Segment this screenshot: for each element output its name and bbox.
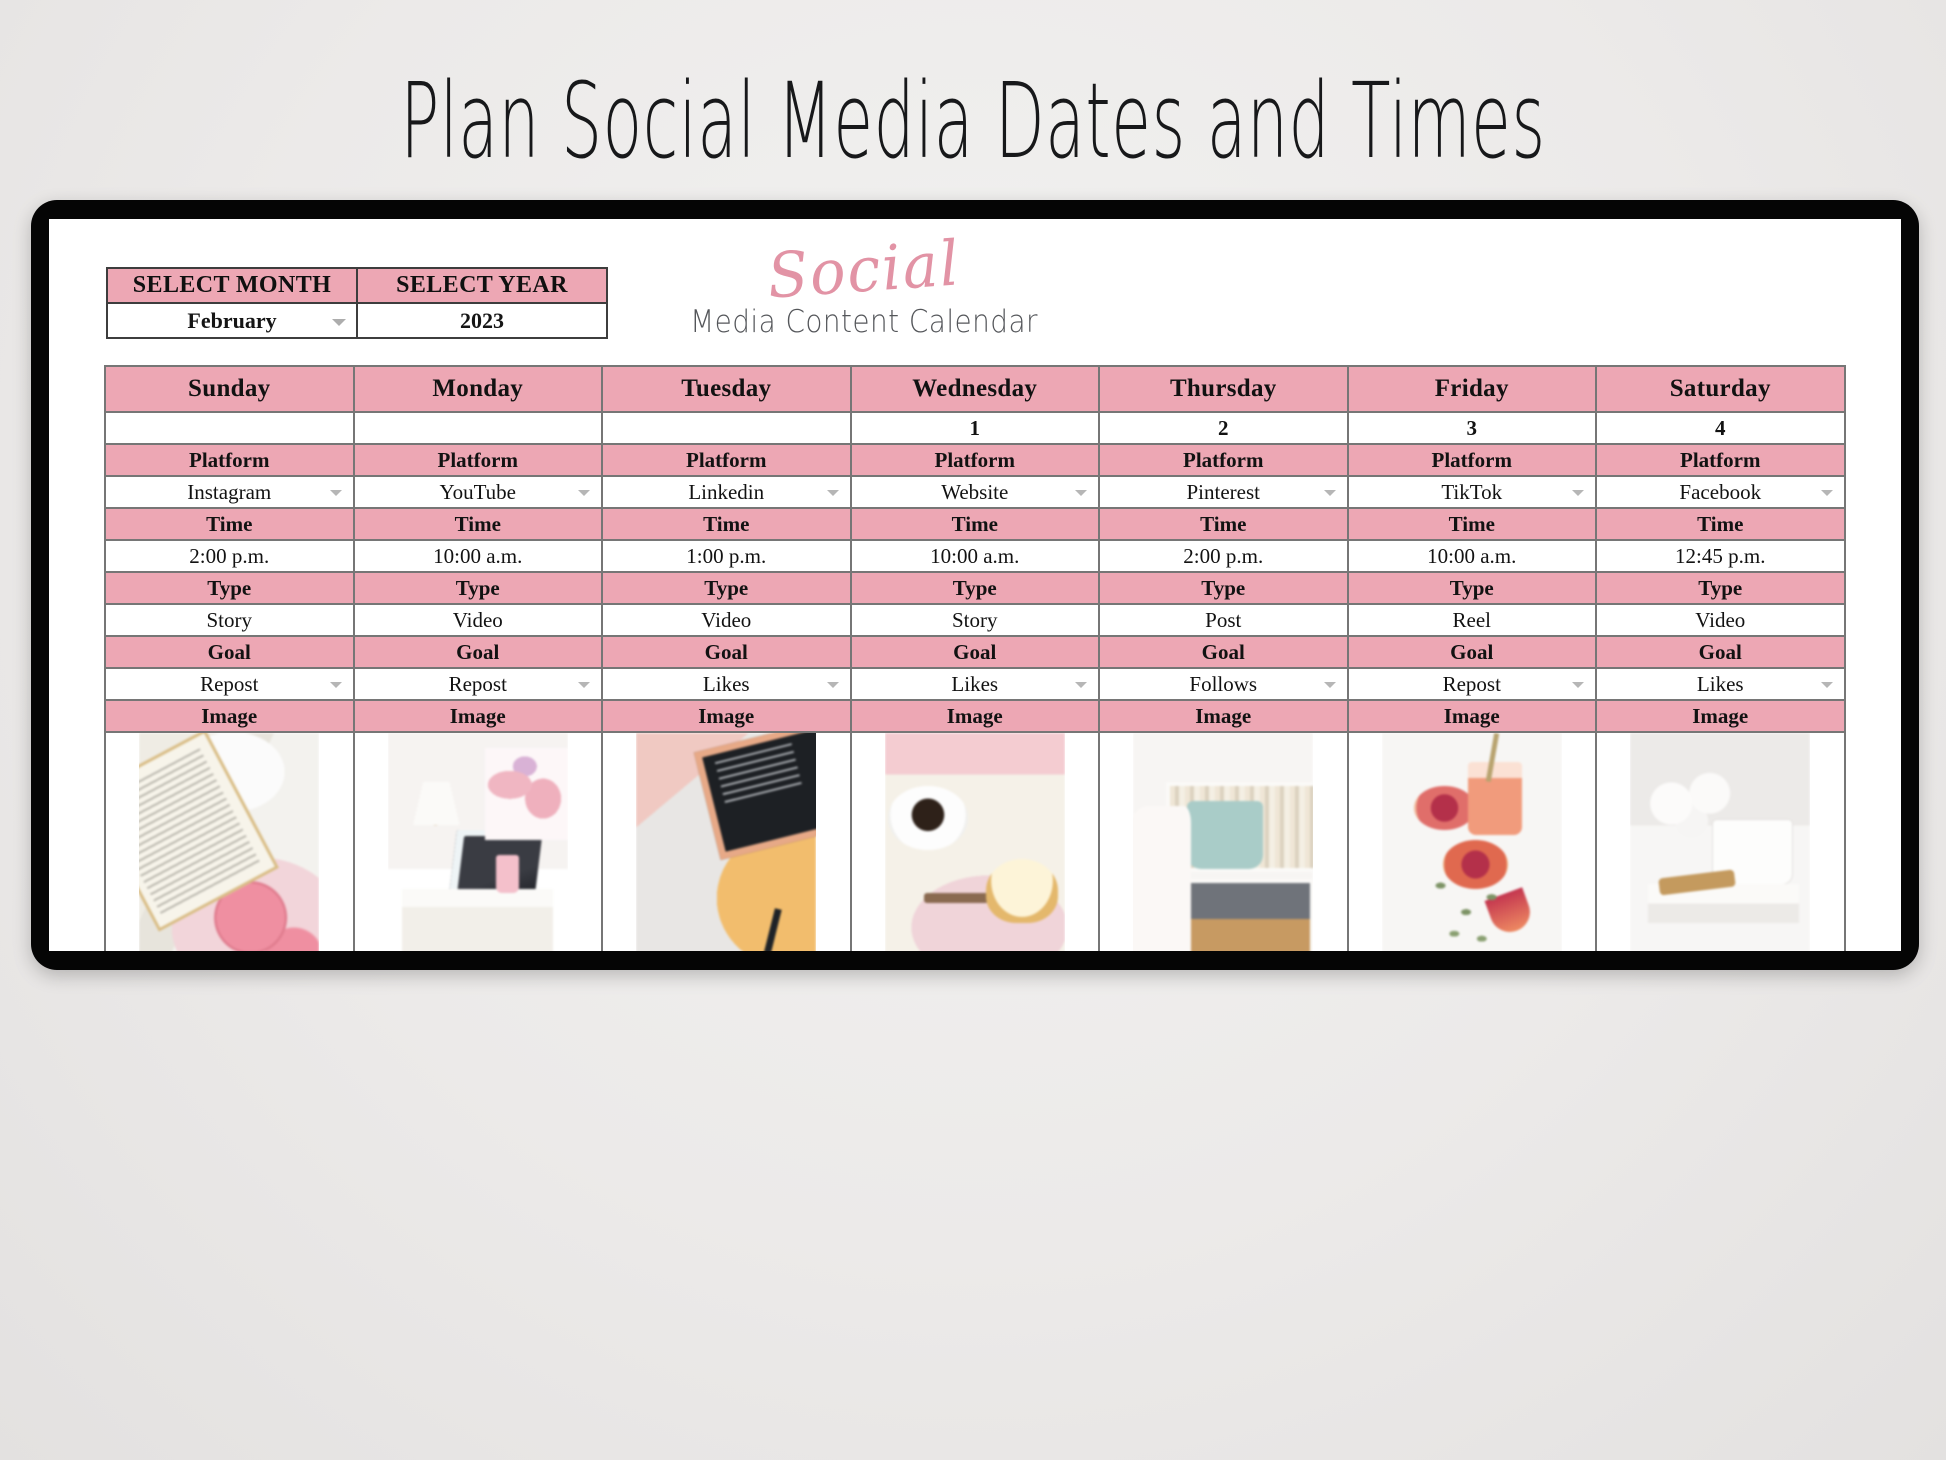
date-cell[interactable]: 3: [1347, 411, 1598, 445]
type-value[interactable]: Video: [1595, 603, 1846, 637]
goal-dropdown[interactable]: Follows: [1098, 667, 1349, 701]
month-value: February: [187, 308, 276, 333]
platform-dropdown[interactable]: TikTok: [1347, 475, 1598, 509]
time-label: Time: [850, 507, 1101, 541]
type-label: Type: [1595, 571, 1846, 605]
image-cell[interactable]: [104, 731, 355, 951]
image-thumbnail: [139, 733, 319, 951]
month-year-selector: SELECT MONTH SELECT YEAR February 2023: [106, 267, 608, 339]
logo-script-text: Social: [658, 225, 1070, 315]
date-cell[interactable]: 2: [1098, 411, 1349, 445]
goal-dropdown[interactable]: Likes: [601, 667, 852, 701]
day-column-friday: Friday3PlatformTikTokTime10:00 a.m.TypeR…: [1349, 367, 1598, 951]
goal-label: Goal: [1347, 635, 1598, 669]
weekday-header: Friday: [1347, 365, 1598, 413]
chevron-down-icon[interactable]: [1324, 490, 1336, 496]
goal-label: Goal: [850, 635, 1101, 669]
date-cell[interactable]: [104, 411, 355, 445]
chevron-down-icon[interactable]: [1075, 490, 1087, 496]
image-thumbnail: [1382, 733, 1562, 951]
chevron-down-icon[interactable]: [1075, 682, 1087, 688]
chevron-down-icon[interactable]: [578, 490, 590, 496]
image-cell[interactable]: [1098, 731, 1349, 951]
type-label: Type: [601, 571, 852, 605]
chevron-down-icon[interactable]: [330, 682, 342, 688]
platform-label: Platform: [353, 443, 604, 477]
day-column-tuesday: Tuesday PlatformLinkedinTime1:00 p.m.Typ…: [603, 367, 852, 951]
image-thumbnail: [1133, 733, 1313, 951]
page-title: Plan Social Media Dates and Times: [370, 66, 1577, 176]
type-label: Type: [104, 571, 355, 605]
chevron-down-icon[interactable]: [1324, 682, 1336, 688]
platform-label: Platform: [1347, 443, 1598, 477]
image-label: Image: [850, 699, 1101, 733]
image-label: Image: [1595, 699, 1846, 733]
platform-label: Platform: [601, 443, 852, 477]
weekday-header: Sunday: [104, 365, 355, 413]
chevron-down-icon[interactable]: [1572, 490, 1584, 496]
weekday-header: Thursday: [1098, 365, 1349, 413]
logo-subtitle: Media Content Calendar: [671, 305, 1058, 339]
time-label: Time: [104, 507, 355, 541]
type-label: Type: [1347, 571, 1598, 605]
goal-dropdown[interactable]: Likes: [1595, 667, 1846, 701]
goal-label: Goal: [601, 635, 852, 669]
goal-label: Goal: [1098, 635, 1349, 669]
image-label: Image: [1098, 699, 1349, 733]
platform-label: Platform: [1098, 443, 1349, 477]
image-cell[interactable]: [850, 731, 1101, 951]
image-cell[interactable]: [1347, 731, 1598, 951]
platform-dropdown[interactable]: Instagram: [104, 475, 355, 509]
time-value[interactable]: 10:00 a.m.: [1347, 539, 1598, 573]
image-cell[interactable]: [1595, 731, 1846, 951]
screen: SELECT MONTH SELECT YEAR February 2023 S…: [49, 219, 1901, 951]
chevron-down-icon[interactable]: [1821, 490, 1833, 496]
image-label: Image: [601, 699, 852, 733]
platform-label: Platform: [1595, 443, 1846, 477]
date-cell[interactable]: 4: [1595, 411, 1846, 445]
select-year-header: SELECT YEAR: [357, 268, 607, 303]
day-column-saturday: Saturday4PlatformFacebookTime12:45 p.m.T…: [1597, 367, 1846, 951]
time-label: Time: [1595, 507, 1846, 541]
type-value[interactable]: Story: [850, 603, 1101, 637]
spreadsheet: SELECT MONTH SELECT YEAR February 2023 S…: [49, 219, 1901, 951]
chevron-down-icon[interactable]: [827, 490, 839, 496]
platform-label: Platform: [850, 443, 1101, 477]
photo-3: [636, 733, 816, 951]
time-value[interactable]: 1:00 p.m.: [601, 539, 852, 573]
day-column-monday: Monday PlatformYouTubeTime10:00 a.m.Type…: [355, 367, 604, 951]
time-value[interactable]: 10:00 a.m.: [850, 539, 1101, 573]
image-cell[interactable]: [601, 731, 852, 951]
platform-dropdown[interactable]: Linkedin: [601, 475, 852, 509]
chevron-down-icon[interactable]: [330, 490, 342, 496]
weekday-header: Wednesday: [850, 365, 1101, 413]
image-thumbnail: [1630, 733, 1810, 951]
goal-label: Goal: [104, 635, 355, 669]
type-label: Type: [850, 571, 1101, 605]
chevron-down-icon[interactable]: [827, 682, 839, 688]
platform-dropdown[interactable]: Facebook: [1595, 475, 1846, 509]
platform-dropdown[interactable]: YouTube: [353, 475, 604, 509]
chevron-down-icon[interactable]: [1572, 682, 1584, 688]
goal-dropdown[interactable]: Repost: [104, 667, 355, 701]
type-value[interactable]: Video: [353, 603, 604, 637]
date-cell[interactable]: 1: [850, 411, 1101, 445]
photo-6: [1382, 733, 1562, 951]
day-column-wednesday: Wednesday1PlatformWebsiteTime10:00 a.m.T…: [852, 367, 1101, 951]
month-dropdown[interactable]: February: [107, 303, 357, 338]
time-value[interactable]: 12:45 p.m.: [1595, 539, 1846, 573]
weekday-header: Saturday: [1595, 365, 1846, 413]
type-value[interactable]: Post: [1098, 603, 1349, 637]
time-label: Time: [1098, 507, 1349, 541]
time-label: Time: [1347, 507, 1598, 541]
type-label: Type: [353, 571, 604, 605]
type-value[interactable]: Video: [601, 603, 852, 637]
photo-1: [139, 733, 319, 951]
platform-label: Platform: [104, 443, 355, 477]
chevron-down-icon[interactable]: [1821, 682, 1833, 688]
type-value[interactable]: Story: [104, 603, 355, 637]
goal-dropdown[interactable]: Repost: [1347, 667, 1598, 701]
logo: Social Media Content Calendar: [649, 239, 1079, 339]
time-label: Time: [601, 507, 852, 541]
image-label: Image: [353, 699, 604, 733]
goal-dropdown[interactable]: Repost: [353, 667, 604, 701]
photo-4: [885, 733, 1065, 951]
time-label: Time: [353, 507, 604, 541]
photo-5: [1133, 733, 1313, 951]
goal-label: Goal: [353, 635, 604, 669]
image-thumbnail: [388, 733, 568, 951]
image-label: Image: [104, 699, 355, 733]
date-cell[interactable]: [353, 411, 604, 445]
device-frame: SELECT MONTH SELECT YEAR February 2023 S…: [31, 200, 1919, 970]
time-value[interactable]: 10:00 a.m.: [353, 539, 604, 573]
photo-2: [388, 733, 568, 951]
weekday-header: Monday: [353, 365, 604, 413]
image-thumbnail: [636, 733, 816, 951]
weekday-header: Tuesday: [601, 365, 852, 413]
time-value[interactable]: 2:00 p.m.: [1098, 539, 1349, 573]
image-label: Image: [1347, 699, 1598, 733]
time-value[interactable]: 2:00 p.m.: [104, 539, 355, 573]
chevron-down-icon[interactable]: [332, 319, 346, 326]
platform-dropdown[interactable]: Pinterest: [1098, 475, 1349, 509]
calendar-grid: Sunday PlatformInstagramTime2:00 p.m.Typ…: [106, 367, 1846, 951]
image-cell[interactable]: [353, 731, 604, 951]
image-thumbnail: [885, 733, 1065, 951]
platform-dropdown[interactable]: Website: [850, 475, 1101, 509]
photo-7: [1630, 733, 1810, 951]
goal-dropdown[interactable]: Likes: [850, 667, 1101, 701]
goal-label: Goal: [1595, 635, 1846, 669]
chevron-down-icon[interactable]: [578, 682, 590, 688]
day-column-thursday: Thursday2PlatformPinterestTime2:00 p.m.T…: [1100, 367, 1349, 951]
type-label: Type: [1098, 571, 1349, 605]
type-value[interactable]: Reel: [1347, 603, 1598, 637]
select-month-header: SELECT MONTH: [107, 268, 357, 303]
date-cell[interactable]: [601, 411, 852, 445]
year-input[interactable]: 2023: [357, 303, 607, 338]
day-column-sunday: Sunday PlatformInstagramTime2:00 p.m.Typ…: [106, 367, 355, 951]
